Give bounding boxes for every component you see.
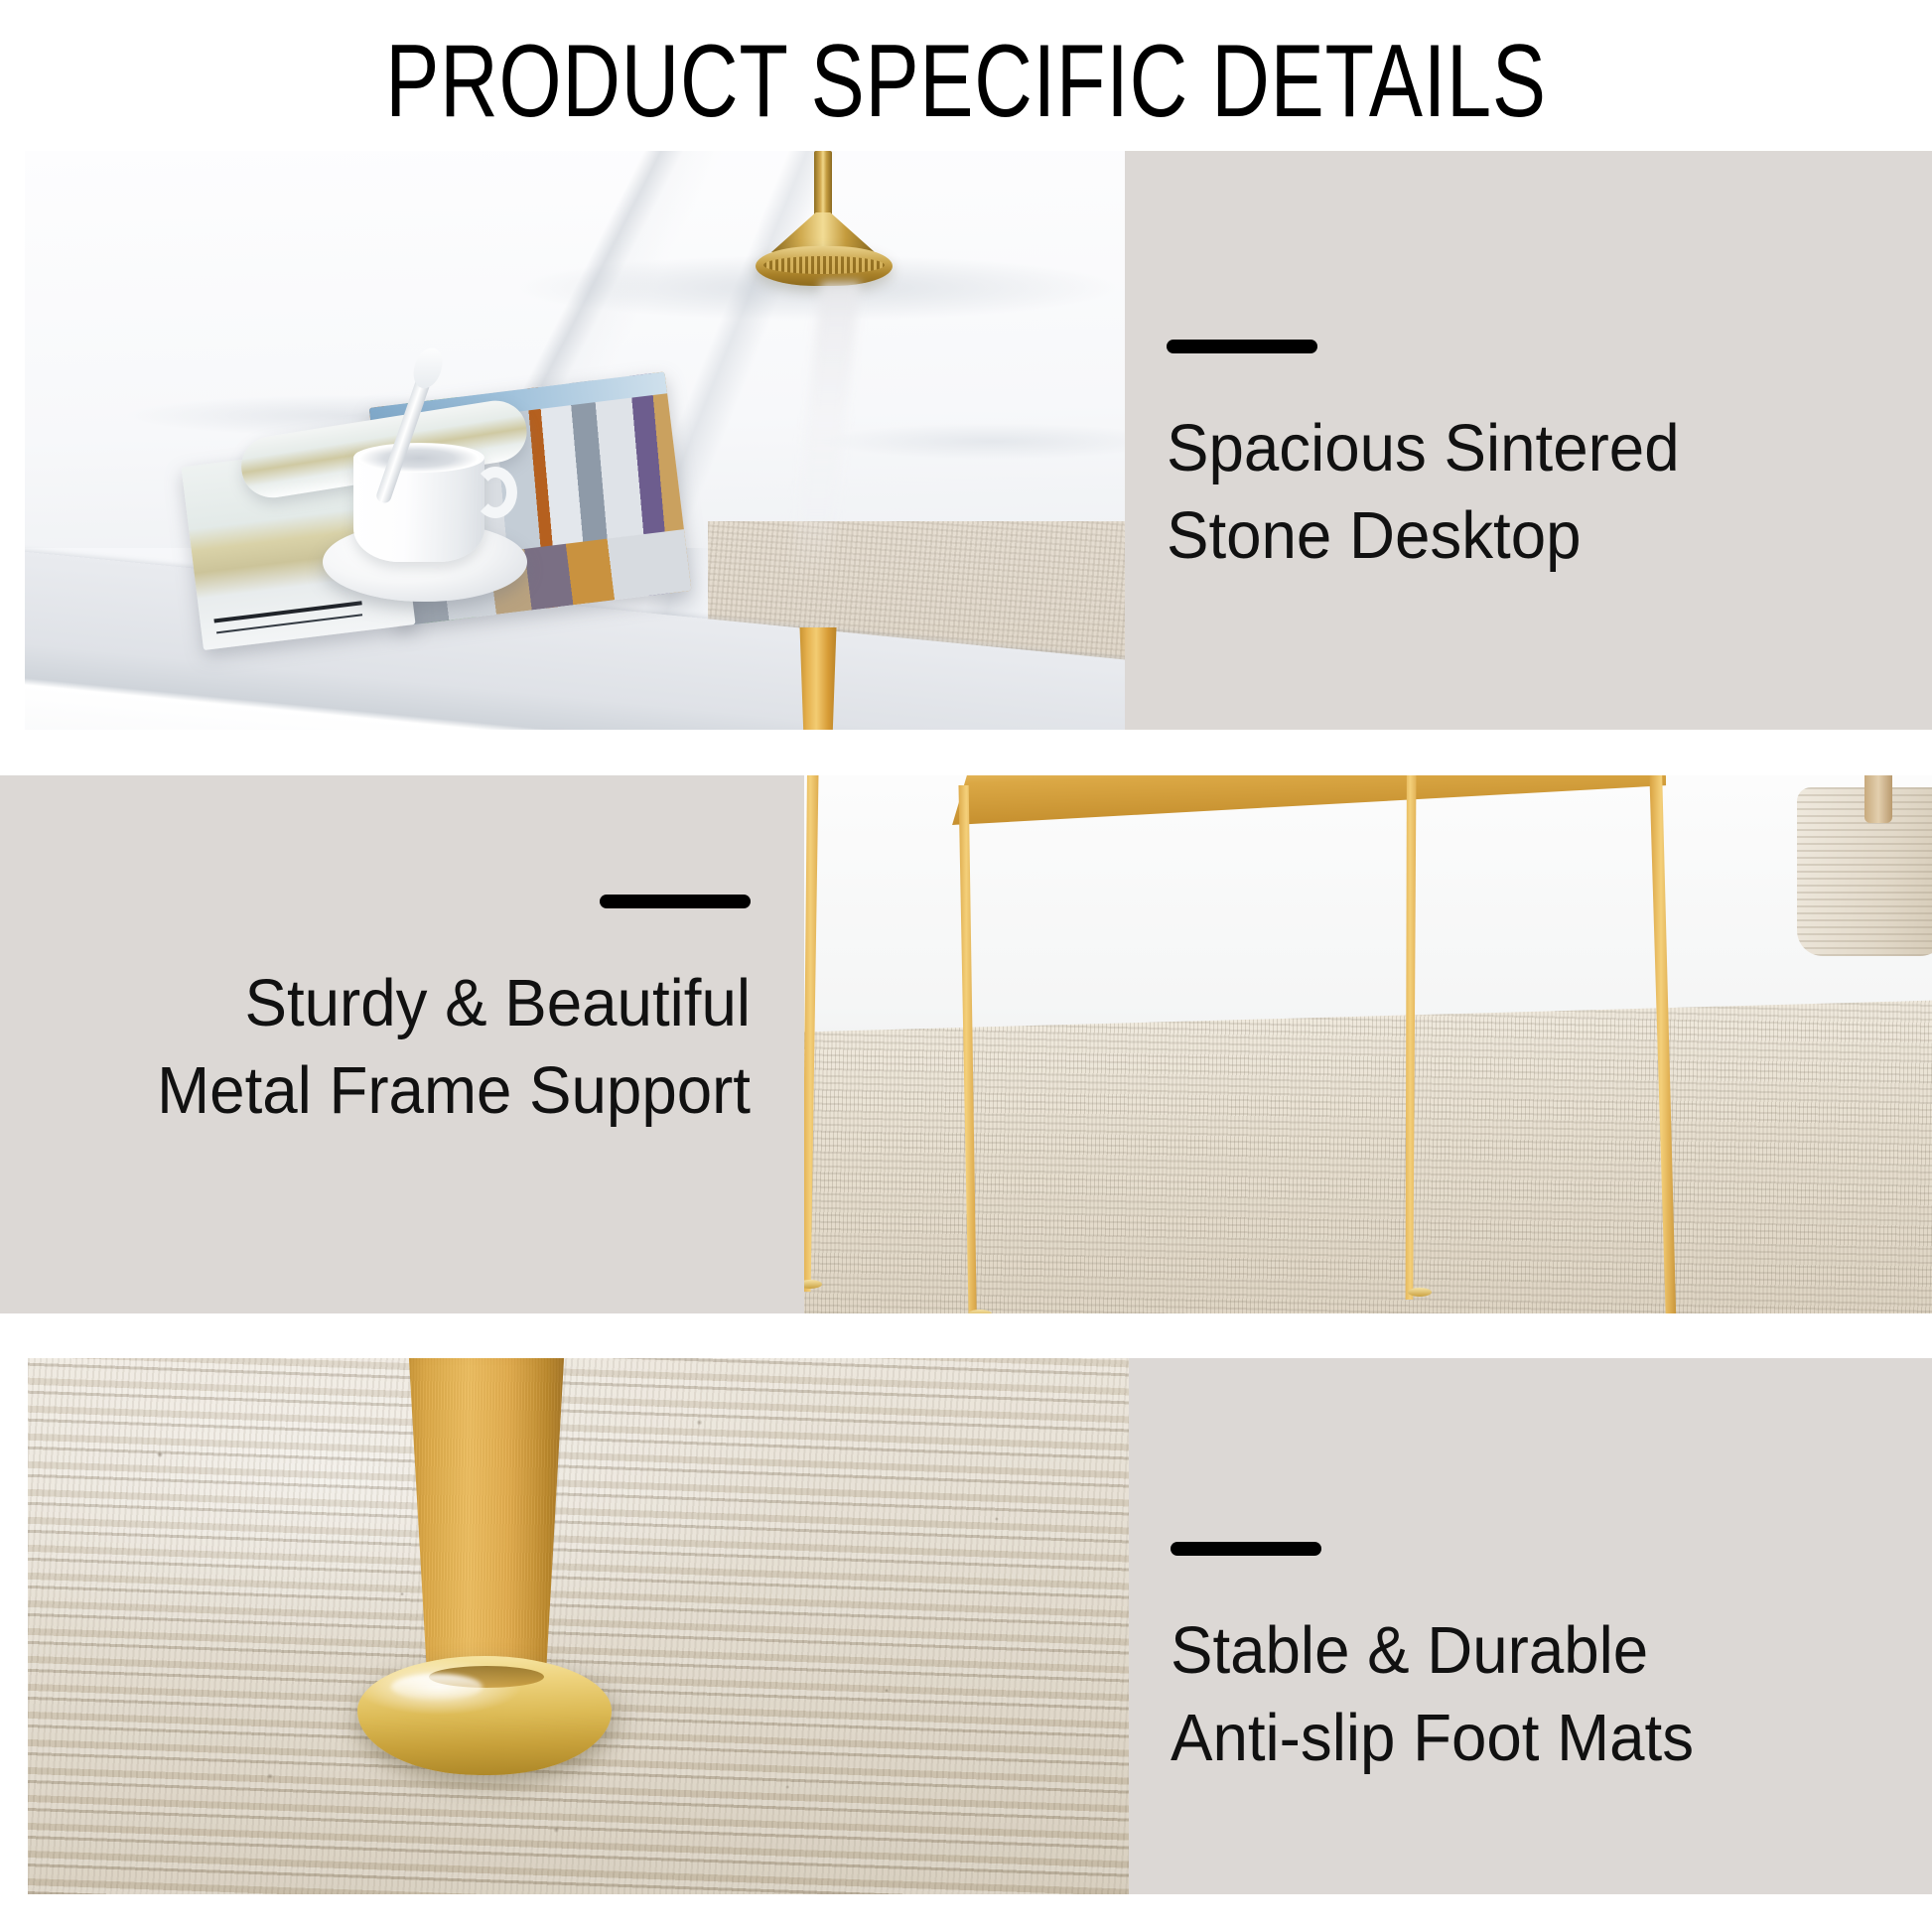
feature-row-spacious-sintered-stone-desktop: Spacious Sintered Stone Desktop (0, 151, 1932, 730)
basket-decor-stick (1864, 775, 1892, 823)
caption-line-2: Anti-slip Foot Mats (1171, 1695, 1894, 1782)
caption-line-1: Spacious Sintered (1167, 405, 1893, 492)
accent-dash-icon (600, 895, 751, 908)
shag-rug-flecks (28, 1358, 1129, 1894)
feature-row-sturdy-beautiful-metal-frame-support: Sturdy & Beautiful Metal Frame Support (0, 775, 1932, 1313)
coffee-cup-rim (353, 443, 484, 473)
accent-dash-icon (1167, 340, 1317, 353)
caption-line-1: Sturdy & Beautiful (38, 960, 751, 1047)
feature-caption-panel-3: Stable & Durable Anti-slip Foot Mats (1129, 1358, 1932, 1894)
feature-caption-2: Sturdy & Beautiful Metal Frame Support (38, 960, 751, 1135)
product-photo-sintered-stone-desktop (25, 151, 1125, 730)
caption-line-1: Stable & Durable (1171, 1607, 1894, 1695)
product-photo-anti-slip-foot-mat (28, 1358, 1129, 1894)
foot-cap-highlight (391, 1674, 483, 1700)
brass-candlestick-beaded-rim (763, 256, 885, 274)
caption-line-2: Metal Frame Support (38, 1047, 751, 1135)
accent-dash-icon (1171, 1542, 1321, 1556)
coffee-cup-handle (474, 467, 517, 518)
feature-caption-1: Spacious Sintered Stone Desktop (1167, 405, 1893, 580)
feature-row-stable-durable-anti-slip-foot-mats: Stable & Durable Anti-slip Foot Mats (0, 1358, 1932, 1894)
feature-caption-panel-1: Spacious Sintered Stone Desktop (1125, 151, 1932, 730)
caption-line-2: Stone Desktop (1167, 492, 1893, 580)
product-photo-metal-frame-legs (804, 775, 1932, 1313)
gold-table-leg (797, 627, 839, 730)
feature-caption-panel-2: Sturdy & Beautiful Metal Frame Support (0, 775, 806, 1313)
page-title: PRODUCT SPECIFIC DETAILS (212, 24, 1720, 139)
anti-slip-foot-cap-3 (1408, 1288, 1432, 1297)
feature-caption-3: Stable & Durable Anti-slip Foot Mats (1171, 1607, 1894, 1782)
anti-slip-foot-cap-2 (968, 1310, 992, 1313)
